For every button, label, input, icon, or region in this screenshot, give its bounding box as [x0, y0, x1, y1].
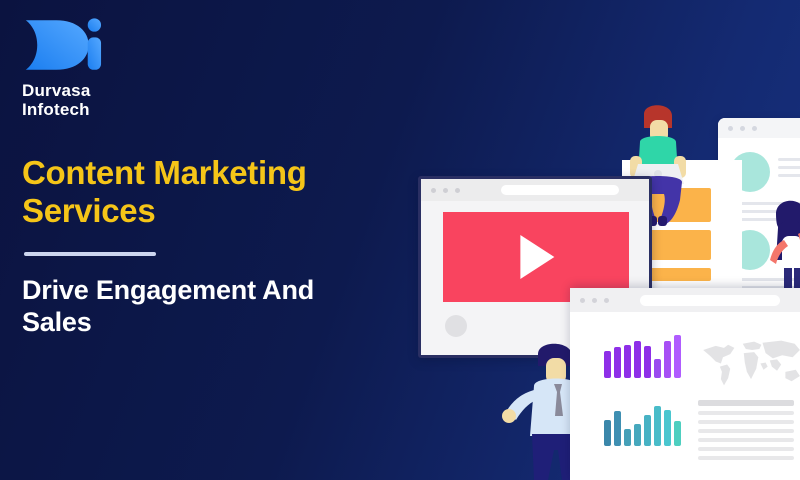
avatar: [445, 315, 467, 337]
text-line: [698, 400, 794, 406]
browser-titlebar: [421, 179, 649, 201]
analytics-dashboard-window[interactable]: [570, 288, 800, 480]
world-map-icon: [698, 332, 800, 394]
window-dot-icon: [431, 188, 436, 193]
window-dot-icon: [740, 126, 745, 131]
text-line: [778, 166, 800, 169]
bar: [664, 410, 671, 446]
bar: [624, 345, 631, 378]
text-line: [698, 420, 794, 424]
text-line: [778, 174, 800, 177]
text-block: [698, 400, 794, 465]
text-line: [698, 456, 794, 460]
content-block: [643, 230, 711, 260]
brand-name-line1: Durvasa: [22, 81, 172, 100]
bar-chart-purple: [604, 332, 681, 378]
marketing-banner: Durvasa Infotech Content Marketing Servi…: [0, 0, 800, 480]
document-card-titlebar: [718, 118, 800, 138]
window-dot-icon: [752, 126, 757, 131]
window-dot-icon: [592, 298, 597, 303]
brand-logo[interactable]: Durvasa Infotech: [22, 14, 172, 119]
window-dot-icon: [455, 188, 460, 193]
brand-name: Durvasa Infotech: [22, 81, 172, 119]
text-line: [698, 429, 794, 433]
text-line: [778, 158, 800, 161]
divider-rule: [24, 252, 156, 256]
bar: [604, 351, 611, 378]
bar-chart-teal: [604, 404, 681, 446]
illustration: [400, 0, 800, 480]
bar: [664, 341, 671, 378]
bar: [654, 359, 661, 378]
address-bar[interactable]: [640, 295, 780, 306]
bar: [674, 335, 681, 378]
bar: [644, 415, 651, 447]
bar: [614, 347, 621, 378]
address-bar[interactable]: [501, 185, 619, 195]
dashboard-titlebar: [570, 288, 800, 312]
bar: [644, 346, 651, 378]
content-block: [643, 268, 711, 281]
window-dot-icon: [580, 298, 585, 303]
bar: [634, 341, 641, 378]
window-dot-icon: [443, 188, 448, 193]
subheadline: Drive Engagement And Sales: [22, 274, 382, 339]
play-button-icon[interactable]: [520, 235, 554, 279]
text-line: [698, 438, 794, 442]
text-line: [698, 447, 794, 451]
bar: [654, 406, 661, 446]
bar: [674, 421, 681, 446]
bar: [604, 420, 611, 446]
text-line: [698, 411, 794, 415]
headline: Content Marketing Services: [22, 154, 392, 231]
bar: [634, 424, 641, 446]
window-dot-icon: [604, 298, 609, 303]
bar: [624, 429, 631, 446]
brand-name-line2: Infotech: [22, 100, 172, 119]
bar: [614, 411, 621, 446]
window-dot-icon: [728, 126, 733, 131]
di-monogram-logo-icon: [22, 14, 102, 76]
